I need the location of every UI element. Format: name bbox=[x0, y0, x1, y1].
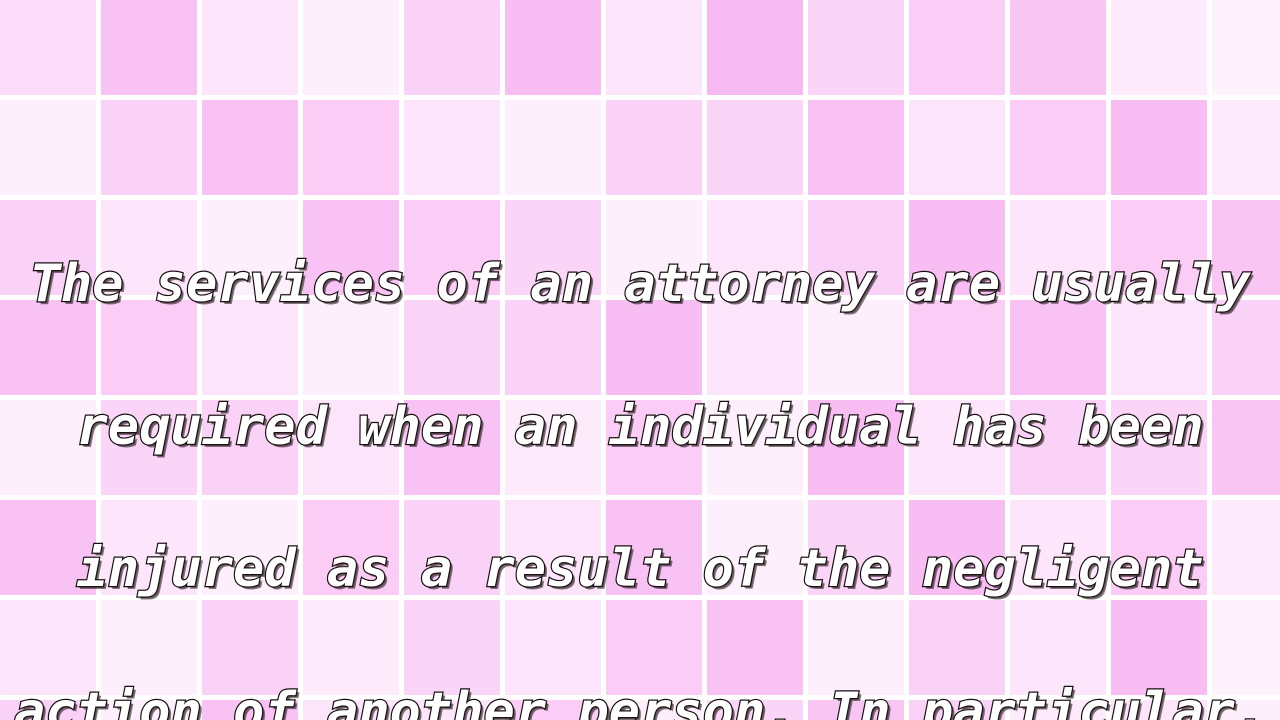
background-tile bbox=[808, 0, 904, 95]
caption-text-block: The services of an attorney are usually … bbox=[0, 166, 1280, 720]
slide-canvas: The services of an attorney are usually … bbox=[0, 0, 1280, 720]
background-tile bbox=[1212, 0, 1280, 95]
caption-line-3: injured as a result of the negligent bbox=[0, 546, 1280, 594]
caption-line-1: The services of an attorney are usually bbox=[0, 261, 1280, 309]
background-tile bbox=[303, 0, 399, 95]
background-tile bbox=[1010, 0, 1106, 95]
background-tile bbox=[1111, 0, 1207, 95]
background-tile bbox=[101, 0, 197, 95]
background-tile bbox=[202, 0, 298, 95]
background-tile bbox=[404, 0, 500, 95]
background-tile bbox=[606, 0, 702, 95]
caption-line-2: required when an individual has been bbox=[0, 404, 1280, 452]
background-tile bbox=[0, 0, 96, 95]
background-tile bbox=[909, 0, 1005, 95]
background-tile bbox=[707, 0, 803, 95]
background-tile bbox=[505, 0, 601, 95]
caption-line-4: action of another person. In particular, bbox=[0, 689, 1280, 720]
